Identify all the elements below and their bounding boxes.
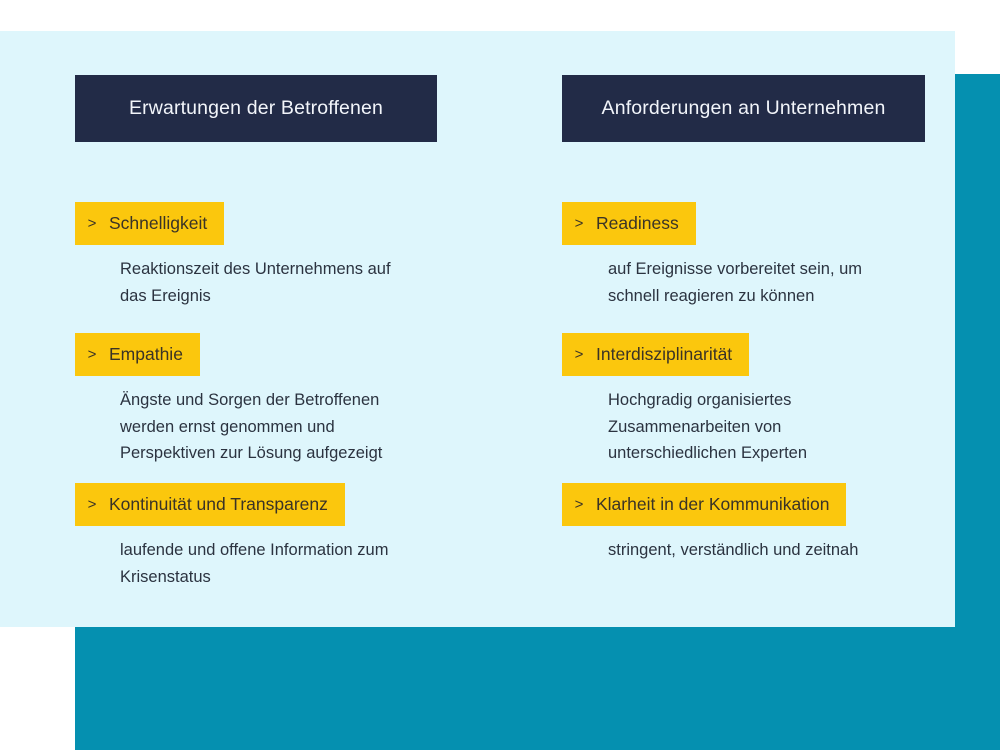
chip-kontinuitaet-und-transparenz[interactable]: > Kontinuität und Transparenz bbox=[75, 483, 345, 526]
item-description: laufende und offene Information zum Kris… bbox=[120, 537, 388, 590]
item-description: auf Ereignisse vorbereitet sein, um schn… bbox=[608, 256, 862, 309]
chip-label: Readiness bbox=[596, 213, 679, 234]
chevron-right-icon: > bbox=[75, 496, 109, 513]
item-description: stringent, verständlich und zeitnah bbox=[608, 537, 858, 564]
chip-label: Schnelligkeit bbox=[109, 213, 207, 234]
chevron-right-icon: > bbox=[562, 346, 596, 363]
chevron-right-icon: > bbox=[75, 215, 109, 232]
item-description: Hochgradig organisiertes Zusammenarbeite… bbox=[608, 387, 807, 467]
chevron-right-icon: > bbox=[562, 215, 596, 232]
slide-canvas: Erwartungen der Betroffenen > Schnelligk… bbox=[0, 0, 1000, 750]
chip-label: Empathie bbox=[109, 344, 183, 365]
column-requirements: Anforderungen an Unternehmen > Readiness… bbox=[562, 75, 962, 142]
column-header-requirements: Anforderungen an Unternehmen bbox=[562, 75, 925, 142]
list-item[interactable]: > Kontinuität und Transparenz laufende u… bbox=[75, 483, 388, 590]
item-description: Reaktionszeit des Unternehmens auf das E… bbox=[120, 256, 391, 309]
chip-schnelligkeit[interactable]: > Schnelligkeit bbox=[75, 202, 224, 245]
chip-readiness[interactable]: > Readiness bbox=[562, 202, 696, 245]
chevron-right-icon: > bbox=[562, 496, 596, 513]
chip-label: Klarheit in der Kommunikation bbox=[596, 494, 829, 515]
column-expectations: Erwartungen der Betroffenen > Schnelligk… bbox=[75, 75, 515, 142]
list-item[interactable]: > Schnelligkeit Reaktionszeit des Untern… bbox=[75, 202, 391, 309]
item-description: Ängste und Sorgen der Betroffenen werden… bbox=[120, 387, 382, 467]
list-item[interactable]: > Klarheit in der Kommunikation stringen… bbox=[562, 483, 858, 564]
chip-interdisziplinaritaet[interactable]: > Interdisziplinarität bbox=[562, 333, 749, 376]
column-header-expectations: Erwartungen der Betroffenen bbox=[75, 75, 437, 142]
chip-label: Interdisziplinarität bbox=[596, 344, 732, 365]
chip-klarheit-in-der-kommunikation[interactable]: > Klarheit in der Kommunikation bbox=[562, 483, 846, 526]
list-item[interactable]: > Interdisziplinarität Hochgradig organi… bbox=[562, 333, 807, 467]
chip-empathie[interactable]: > Empathie bbox=[75, 333, 200, 376]
slide-content: Erwartungen der Betroffenen > Schnelligk… bbox=[0, 0, 1000, 750]
chip-label: Kontinuität und Transparenz bbox=[109, 494, 328, 515]
chevron-right-icon: > bbox=[75, 346, 109, 363]
list-item[interactable]: > Empathie Ängste und Sorgen der Betroff… bbox=[75, 333, 382, 467]
list-item[interactable]: > Readiness auf Ereignisse vorbereitet s… bbox=[562, 202, 862, 309]
